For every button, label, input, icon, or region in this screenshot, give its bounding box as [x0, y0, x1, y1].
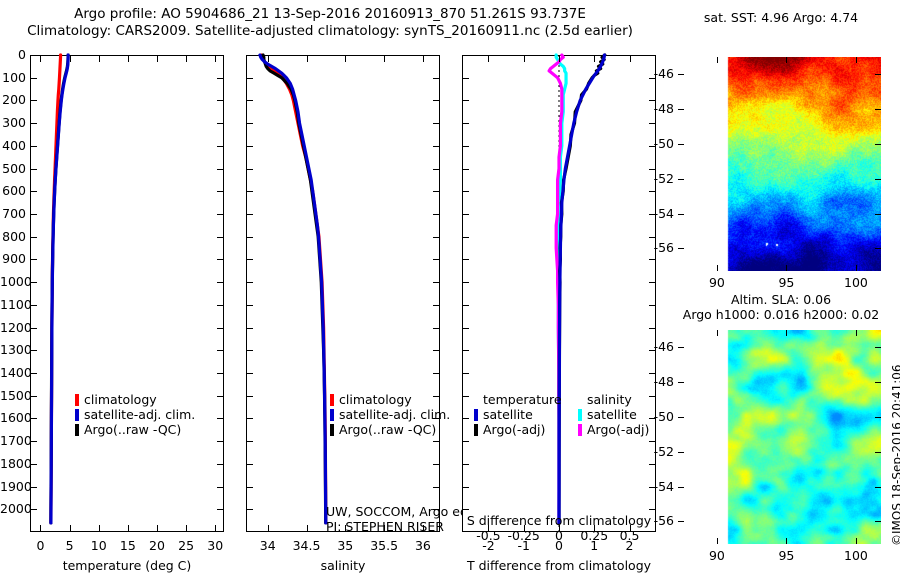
difference-temperature-legend: temperaturesatelliteArgo(-adj): [474, 392, 562, 437]
axis-tick: [649, 191, 656, 192]
axis-tick: [433, 146, 440, 147]
axis-tick: [246, 441, 253, 442]
legend-color-swatch: [75, 394, 79, 406]
axis-tick: [875, 74, 881, 75]
latitude-tick-label: -50: [642, 409, 674, 424]
axis-tick: [433, 464, 440, 465]
axis-tick: [433, 191, 440, 192]
axis-tick: [30, 214, 37, 215]
axis-tick: [678, 74, 684, 75]
temperature-legend: climatologysatellite-adj. clim.Argo(..ra…: [75, 392, 195, 437]
difference-panel: [462, 55, 656, 532]
axis-tick: [70, 55, 71, 62]
salinity-profile-plot: [246, 55, 440, 532]
temperature-tick-label: 30: [197, 538, 233, 553]
axis-tick: [630, 55, 631, 62]
axis-tick: [462, 396, 469, 397]
axis-tick: [217, 464, 224, 465]
axis-tick: [856, 57, 857, 63]
axis-tick: [678, 214, 684, 215]
axis-tick: [246, 487, 253, 488]
axis-tick: [649, 328, 656, 329]
axis-tick: [345, 55, 346, 62]
axis-tick: [30, 169, 37, 170]
axis-tick: [462, 441, 469, 442]
difference-temperature-legend-entry: satellite: [474, 407, 562, 422]
axis-tick: [433, 214, 440, 215]
axis-tick: [856, 330, 857, 336]
axis-tick: [30, 123, 37, 124]
depth-tick-label: 900: [0, 251, 26, 266]
axis-tick: [678, 109, 684, 110]
depth-tick-label: 1500: [0, 388, 26, 403]
axis-tick: [875, 109, 881, 110]
axis-tick: [649, 282, 656, 283]
axis-tick: [217, 146, 224, 147]
title-line-1: Argo profile: AO 5904686_21 13-Sep-2016 …: [0, 6, 660, 23]
axis-tick: [875, 521, 881, 522]
axis-tick: [594, 55, 595, 62]
legend-label: satellite-adj. clim.: [84, 407, 195, 422]
axis-tick: [649, 464, 656, 465]
axis-tick: [30, 191, 37, 192]
legend-color-swatch: [330, 424, 334, 436]
salinity-tick-label: 35.5: [362, 538, 406, 553]
longitude-tick-label: 90: [697, 548, 737, 563]
axis-tick: [268, 55, 269, 62]
axis-tick: [99, 525, 100, 532]
axis-tick: [307, 525, 308, 532]
axis-tick: [433, 100, 440, 101]
axis-tick: [30, 78, 37, 79]
axis-tick: [217, 169, 224, 170]
depth-tick-label: 0: [0, 47, 26, 62]
legend-label: satellite: [587, 407, 637, 422]
depth-tick-label: 1600: [0, 410, 26, 425]
axis-tick: [875, 179, 881, 180]
temperature-legend-entry: satellite-adj. clim.: [75, 407, 195, 422]
axis-tick: [649, 441, 656, 442]
axis-tick: [157, 55, 158, 62]
axis-tick: [217, 350, 224, 351]
axis-tick: [875, 382, 881, 383]
salinity-legend-entry: satellite-adj. clim.: [330, 407, 450, 422]
axis-tick: [433, 237, 440, 238]
axis-tick: [30, 237, 37, 238]
salinity-tick-label: 36: [401, 538, 445, 553]
t-difference-tick-label: -1: [506, 538, 542, 553]
axis-tick: [433, 328, 440, 329]
salinity-tick-label: 34.5: [285, 538, 329, 553]
axis-tick: [217, 441, 224, 442]
t-difference-tick-label: 0: [541, 538, 577, 553]
sst-map-panel: [678, 57, 881, 271]
latitude-tick-label: -48: [642, 101, 674, 116]
axis-tick: [186, 55, 187, 62]
axis-tick: [217, 487, 224, 488]
depth-tick-label: 1300: [0, 342, 26, 357]
axis-tick: [462, 169, 469, 170]
latitude-tick-label: -56: [642, 240, 674, 255]
axis-tick: [246, 78, 253, 79]
axis-tick: [246, 305, 253, 306]
depth-tick-label: 1400: [0, 365, 26, 380]
axis-tick: [649, 55, 656, 56]
axis-tick: [462, 146, 469, 147]
depth-tick-label: 200: [0, 92, 26, 107]
difference-bottom-xaxis-label: T difference from climatology: [462, 558, 656, 573]
axis-tick: [30, 146, 37, 147]
difference-top-xaxis-label: S difference from climatology: [462, 513, 656, 528]
difference-salinity-legend-entry: satellite: [578, 407, 649, 422]
salinity-tick-label: 35: [323, 538, 367, 553]
axis-tick: [246, 396, 253, 397]
latitude-tick-label: -50: [642, 136, 674, 151]
axis-tick: [786, 265, 787, 271]
legend-color-swatch: [75, 424, 79, 436]
difference-salinity-legend-entry: Argo(-adj): [578, 422, 649, 437]
axis-tick: [717, 57, 718, 63]
difference-salinity-legend-header: salinity: [578, 392, 649, 407]
axis-tick: [433, 282, 440, 283]
axis-tick: [186, 525, 187, 532]
axis-tick: [215, 55, 216, 62]
depth-tick-label: 1900: [0, 479, 26, 494]
axis-tick: [246, 55, 253, 56]
depth-tick-label: 1200: [0, 320, 26, 335]
axis-tick: [433, 78, 440, 79]
axis-tick: [856, 265, 857, 271]
axis-tick: [433, 305, 440, 306]
difference-curve: [559, 55, 605, 523]
axis-tick: [875, 417, 881, 418]
axis-tick: [678, 144, 684, 145]
axis-tick: [678, 382, 684, 383]
salinity-xaxis-label: salinity: [246, 558, 440, 573]
axis-tick: [433, 123, 440, 124]
axis-tick: [875, 347, 881, 348]
axis-tick: [128, 55, 129, 62]
temperature-profile-plot: [30, 55, 224, 532]
axis-tick: [30, 100, 37, 101]
axis-tick: [246, 191, 253, 192]
sla-map-header: Altim. SLA: 0.06 Argo h1000: 0.016 h2000…: [676, 292, 886, 322]
axis-tick: [217, 78, 224, 79]
axis-tick: [678, 179, 684, 180]
axis-tick: [524, 55, 525, 62]
axis-tick: [678, 452, 684, 453]
axis-tick: [649, 509, 656, 510]
axis-tick: [462, 100, 469, 101]
salinity-curve: [262, 55, 326, 523]
axis-tick: [462, 78, 469, 79]
temperature-legend-entry: Argo(..raw -QC): [75, 422, 195, 437]
axis-tick: [462, 328, 469, 329]
legend-label: Argo(..raw -QC): [84, 422, 181, 437]
temperature-panel: [30, 55, 224, 532]
axis-tick: [462, 305, 469, 306]
sla-header-line-1: Altim. SLA: 0.06: [676, 292, 886, 307]
axis-tick: [462, 55, 469, 56]
axis-tick: [462, 373, 469, 374]
latitude-tick-label: -56: [642, 513, 674, 528]
axis-tick: [157, 525, 158, 532]
salinity-legend-entry: climatology: [330, 392, 450, 407]
axis-tick: [462, 123, 469, 124]
axis-tick: [217, 282, 224, 283]
legend-color-swatch: [330, 409, 334, 421]
depth-tick-label: 1000: [0, 274, 26, 289]
longitude-tick-label: 100: [836, 275, 876, 290]
difference-salinity-legend: salinitysatelliteArgo(-adj): [578, 392, 649, 437]
legend-label: Argo(..raw -QC): [339, 422, 436, 437]
axis-tick: [246, 509, 253, 510]
axis-tick: [462, 237, 469, 238]
axis-tick: [649, 123, 656, 124]
axis-tick: [875, 248, 881, 249]
axis-tick: [433, 169, 440, 170]
axis-tick: [649, 396, 656, 397]
difference-profile-plot: [462, 55, 656, 532]
axis-tick: [384, 55, 385, 62]
legend-label: climatology: [84, 392, 157, 407]
axis-tick: [462, 464, 469, 465]
title-line-2: Climatology: CARS2009. Satellite-adjuste…: [0, 23, 660, 40]
axis-tick: [462, 259, 469, 260]
salinity-curve: [263, 55, 326, 523]
axis-tick: [246, 328, 253, 329]
salinity-legend: climatologysatellite-adj. clim.Argo(..ra…: [330, 392, 450, 437]
axis-tick: [99, 55, 100, 62]
axis-tick: [246, 146, 253, 147]
legend-label: Argo(-adj): [483, 422, 545, 437]
axis-tick: [678, 248, 684, 249]
axis-tick: [70, 525, 71, 532]
salinity-curve: [260, 55, 326, 523]
axis-tick: [30, 259, 37, 260]
legend-label: satellite: [483, 407, 533, 422]
axis-tick: [462, 214, 469, 215]
axis-tick: [433, 487, 440, 488]
axis-tick: [246, 123, 253, 124]
longitude-tick-label: 90: [697, 275, 737, 290]
axis-tick: [433, 350, 440, 351]
axis-tick: [246, 214, 253, 215]
difference-curve: [559, 55, 604, 523]
latitude-tick-label: -52: [642, 171, 674, 186]
legend-color-swatch: [330, 394, 334, 406]
latitude-tick-label: -54: [642, 479, 674, 494]
axis-tick: [217, 237, 224, 238]
axis-tick: [307, 55, 308, 62]
axis-tick: [246, 373, 253, 374]
depth-tick-label: 1100: [0, 297, 26, 312]
axis-tick: [678, 521, 684, 522]
salinity-legend-entry: Argo(..raw -QC): [330, 422, 450, 437]
axis-tick: [717, 330, 718, 336]
axis-tick: [856, 538, 857, 544]
axis-tick: [433, 259, 440, 260]
depth-tick-label: 1700: [0, 433, 26, 448]
legend-label: climatology: [339, 392, 412, 407]
longitude-tick-label: 100: [836, 548, 876, 563]
axis-tick: [217, 123, 224, 124]
t-difference-tick-label: 2: [612, 538, 648, 553]
axis-tick: [462, 191, 469, 192]
t-difference-tick-label: 1: [576, 538, 612, 553]
axis-tick: [678, 417, 684, 418]
axis-tick: [217, 259, 224, 260]
axis-tick: [246, 237, 253, 238]
salinity-tick-label: 34: [246, 538, 290, 553]
sla-map-image: [678, 330, 881, 544]
axis-tick: [786, 330, 787, 336]
latitude-tick-label: -54: [642, 206, 674, 221]
depth-tick-label: 400: [0, 138, 26, 153]
axis-tick: [246, 282, 253, 283]
legend-color-swatch: [578, 424, 582, 436]
temperature-xaxis-label: temperature (deg C): [30, 558, 224, 573]
figure-title: Argo profile: AO 5904686_21 13-Sep-2016 …: [0, 6, 660, 40]
axis-tick: [246, 169, 253, 170]
axis-tick: [217, 214, 224, 215]
legend-color-swatch: [578, 409, 582, 421]
axis-tick: [217, 55, 224, 56]
axis-tick: [462, 487, 469, 488]
axis-tick: [433, 441, 440, 442]
axis-tick: [40, 55, 41, 62]
axis-tick: [217, 100, 224, 101]
axis-tick: [678, 487, 684, 488]
axis-tick: [217, 396, 224, 397]
axis-tick: [217, 191, 224, 192]
legend-label: satellite-adj. clim.: [339, 407, 450, 422]
axis-tick: [423, 55, 424, 62]
salinity-panel: [246, 55, 440, 532]
axis-tick: [30, 55, 37, 56]
axis-tick: [649, 169, 656, 170]
depth-tick-label: 800: [0, 229, 26, 244]
legend-color-swatch: [474, 409, 478, 421]
latitude-tick-label: -48: [642, 374, 674, 389]
legend-label: Argo(-adj): [587, 422, 649, 437]
axis-tick: [128, 525, 129, 532]
imos-copyright: ©IMOS 18-Sep-2016 20:41:06: [890, 364, 900, 546]
depth-tick-label: 500: [0, 161, 26, 176]
axis-tick: [875, 144, 881, 145]
depth-tick-label: 600: [0, 183, 26, 198]
sla-map-panel: [678, 330, 881, 544]
depth-tick-label: 100: [0, 70, 26, 85]
axis-tick: [246, 259, 253, 260]
axis-tick: [433, 55, 440, 56]
axis-tick: [215, 525, 216, 532]
axis-tick: [217, 418, 224, 419]
axis-tick: [649, 237, 656, 238]
axis-tick: [649, 259, 656, 260]
axis-tick: [217, 373, 224, 374]
axis-tick: [433, 373, 440, 374]
depth-tick-label: 700: [0, 206, 26, 221]
axis-tick: [246, 464, 253, 465]
axis-tick: [717, 538, 718, 544]
legend-color-swatch: [474, 424, 478, 436]
axis-tick: [462, 509, 469, 510]
axis-tick: [875, 487, 881, 488]
axis-tick: [678, 347, 684, 348]
axis-tick: [786, 57, 787, 63]
difference-temperature-legend-entry: Argo(-adj): [474, 422, 562, 437]
axis-tick: [462, 350, 469, 351]
axis-tick: [488, 55, 489, 62]
latitude-tick-label: -46: [642, 339, 674, 354]
axis-tick: [246, 100, 253, 101]
temperature-curve: [51, 55, 68, 523]
t-difference-tick-label: -2: [470, 538, 506, 553]
axis-tick: [217, 328, 224, 329]
axis-tick: [649, 305, 656, 306]
axis-tick: [875, 214, 881, 215]
latitude-tick-label: -46: [642, 66, 674, 81]
depth-tick-label: 2000: [0, 501, 26, 516]
legend-color-swatch: [75, 409, 79, 421]
axis-tick: [559, 55, 560, 62]
axis-tick: [875, 452, 881, 453]
longitude-tick-label: 95: [766, 548, 806, 563]
axis-tick: [246, 350, 253, 351]
temperature-legend-entry: climatology: [75, 392, 195, 407]
axis-tick: [462, 418, 469, 419]
depth-tick-label: 300: [0, 115, 26, 130]
axis-tick: [786, 538, 787, 544]
difference-temperature-legend-header: temperature: [474, 392, 562, 407]
axis-tick: [246, 418, 253, 419]
axis-tick: [268, 525, 269, 532]
axis-tick: [217, 305, 224, 306]
axis-tick: [40, 525, 41, 532]
longitude-tick-label: 95: [766, 275, 806, 290]
sst-map-image: [678, 57, 881, 271]
sst-map-header: sat. SST: 4.96 Argo: 4.74: [676, 10, 886, 25]
axis-tick: [217, 509, 224, 510]
depth-tick-label: 1800: [0, 456, 26, 471]
sla-header-line-2: Argo h1000: 0.016 h2000: 0.02: [676, 307, 886, 322]
axis-tick: [462, 282, 469, 283]
axis-tick: [717, 265, 718, 271]
latitude-tick-label: -52: [642, 444, 674, 459]
